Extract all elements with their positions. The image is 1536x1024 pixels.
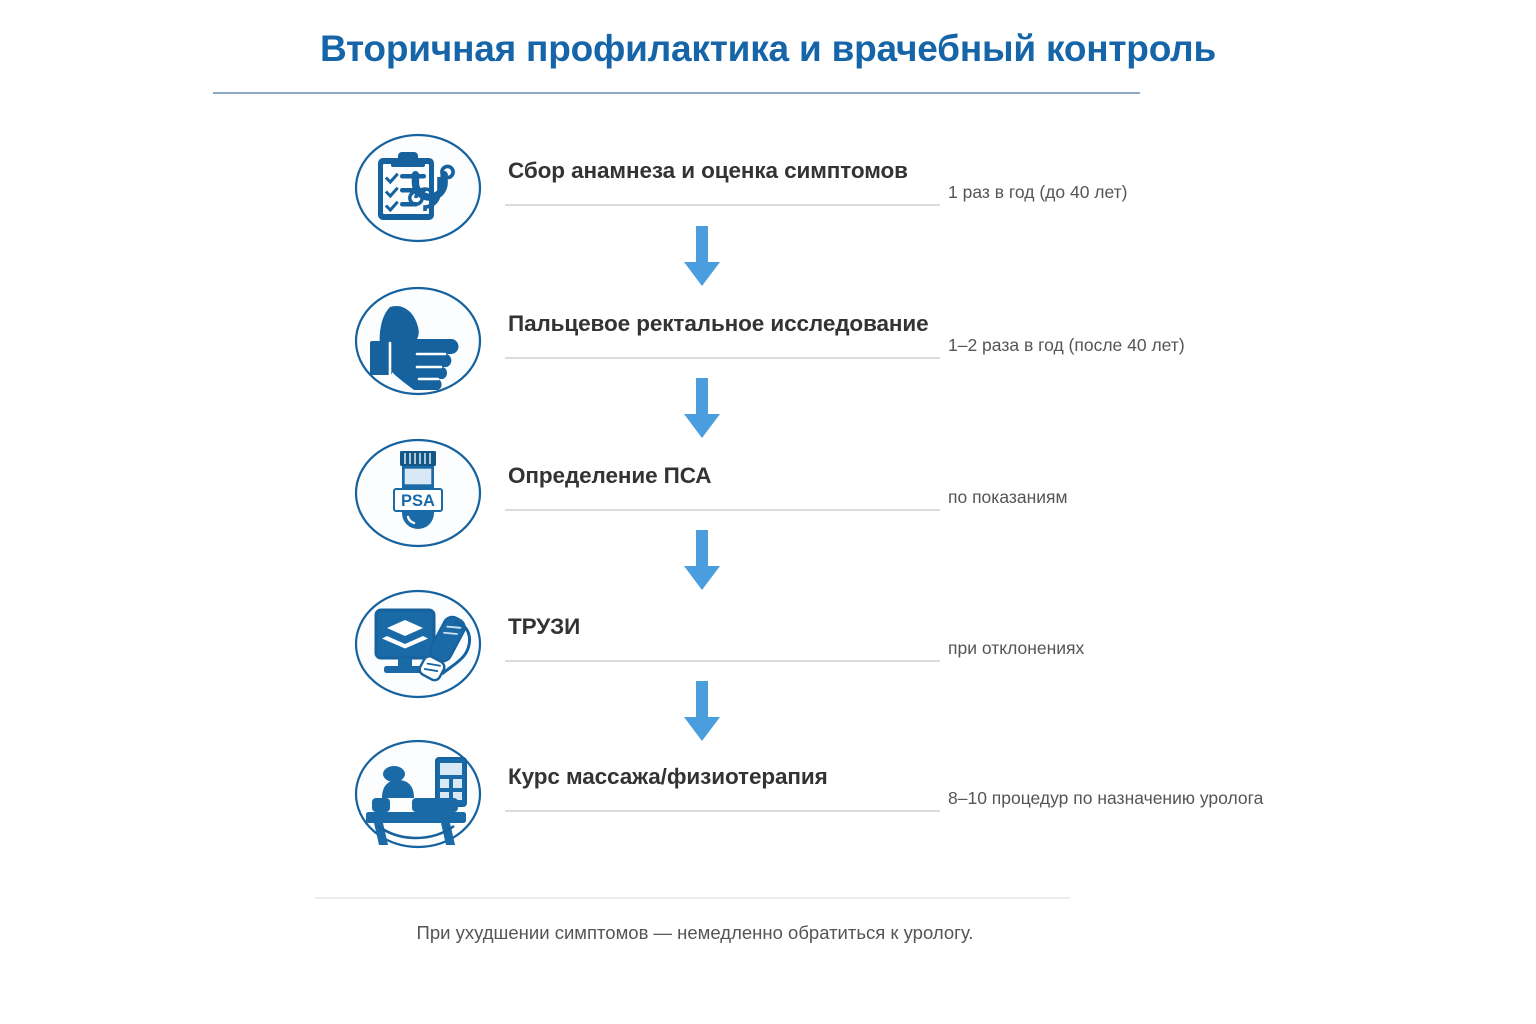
flow-step-divider bbox=[505, 357, 940, 359]
flow-step-label: Сбор анамнеза и оценка симптомов bbox=[508, 158, 908, 184]
arrow-down-4 bbox=[672, 681, 732, 743]
flow-step-divider bbox=[505, 810, 940, 812]
arrow-down-3 bbox=[672, 530, 732, 592]
flow-step-label: Курс массажа/физиотерапия bbox=[508, 764, 828, 790]
clipboard-stethoscope-icon bbox=[350, 132, 486, 244]
arrow-down-2 bbox=[672, 378, 732, 440]
svg-text:PSA: PSA bbox=[401, 492, 435, 510]
flow-step-divider bbox=[505, 509, 940, 511]
pointing-hand-icon bbox=[350, 285, 486, 397]
massage-table-icon bbox=[350, 738, 486, 850]
flow-step-1[interactable]: Сбор анамнеза и оценка симптомов 1 раз в… bbox=[350, 132, 1450, 244]
psa-test-tube-icon: PSA bbox=[350, 437, 486, 549]
flow-step-note: 8–10 процедур по назначению уролога bbox=[948, 788, 1263, 809]
footer-divider bbox=[315, 897, 1070, 899]
flow-step-label: Определение ПСА bbox=[508, 463, 711, 489]
flow-step-5[interactable]: Курс массажа/физиотерапия 8–10 процедур … bbox=[350, 738, 1450, 850]
flow-step-divider bbox=[505, 660, 940, 662]
flow-step-label: ТРУЗИ bbox=[508, 614, 580, 640]
flow-step-4[interactable]: ТРУЗИ при отклонениях bbox=[350, 588, 1450, 700]
ultrasound-monitor-probe-icon bbox=[350, 588, 486, 700]
flow-step-note: 1–2 раза в год (после 40 лет) bbox=[948, 335, 1185, 356]
flow-step-label: Пальцевое ректальное исследование bbox=[508, 311, 929, 337]
flow-step-note: при отклонениях bbox=[948, 638, 1084, 659]
flow-step-note: по показаниям bbox=[948, 487, 1068, 508]
flow-step-3[interactable]: PSA Определение ПСА по показаниям bbox=[350, 437, 1450, 549]
flow-list: Сбор анамнеза и оценка симптомов 1 раз в… bbox=[0, 0, 1536, 1024]
arrow-down-1 bbox=[672, 226, 732, 288]
flow-step-2[interactable]: Пальцевое ректальное исследование 1–2 ра… bbox=[350, 285, 1450, 397]
flow-step-divider bbox=[505, 204, 940, 206]
footer-note: При ухудшении симптомов — немедленно обр… bbox=[0, 922, 1390, 944]
flow-step-note: 1 раз в год (до 40 лет) bbox=[948, 182, 1128, 203]
